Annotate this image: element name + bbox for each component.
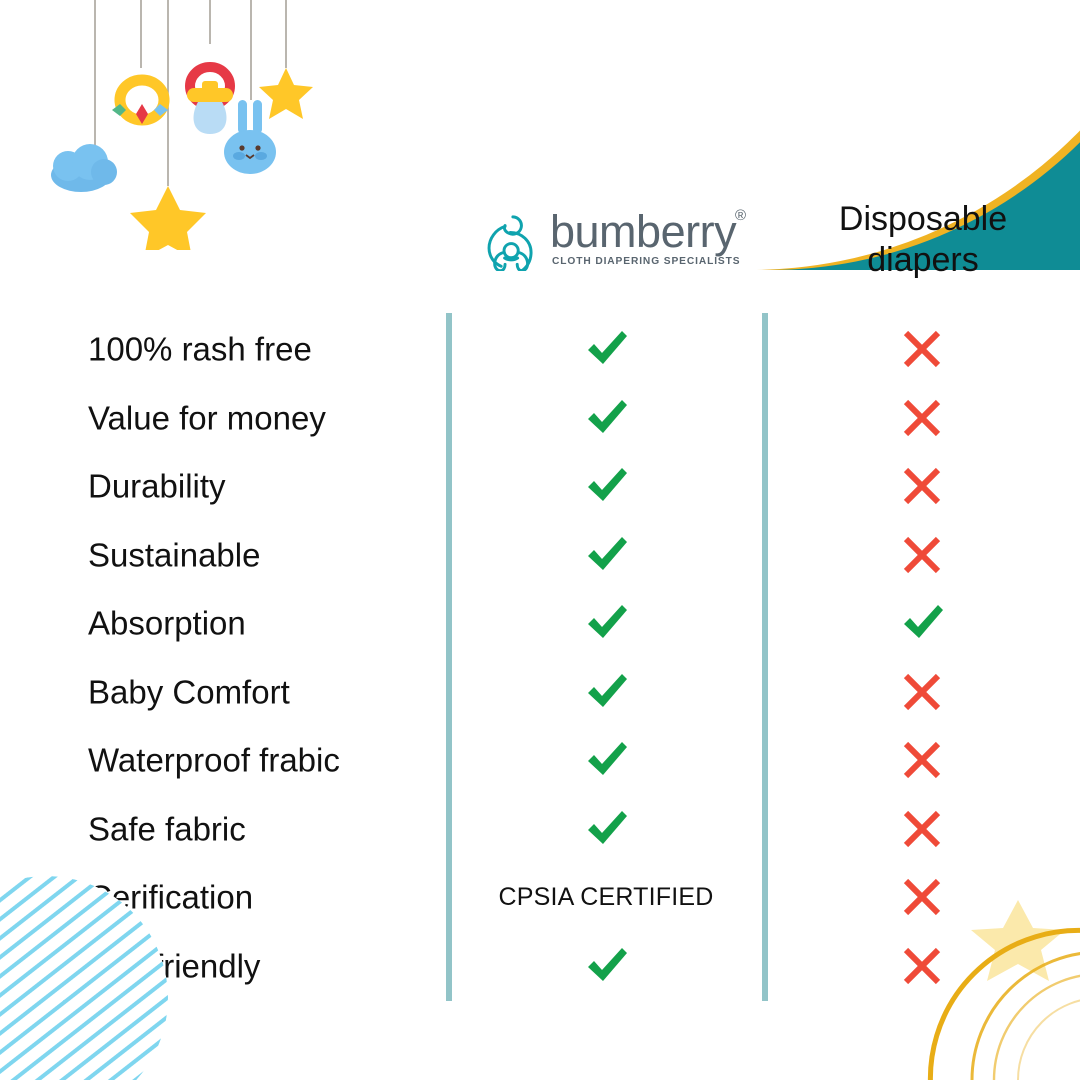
star-icon bbox=[259, 68, 313, 119]
brand-cell bbox=[452, 593, 760, 653]
rival-cell bbox=[768, 867, 1076, 927]
rival-cell bbox=[768, 662, 1076, 722]
cross-icon bbox=[901, 671, 943, 713]
check-icon bbox=[582, 599, 630, 647]
rival-column-title: Disposable diapers bbox=[823, 199, 1023, 282]
brand-cell bbox=[452, 319, 760, 379]
feature-label: Safe fabric bbox=[88, 812, 246, 845]
cross-icon bbox=[901, 534, 943, 576]
table-row: Sustainable bbox=[0, 521, 1080, 590]
table-row: Durability bbox=[0, 452, 1080, 521]
table-row: Baby Comfort bbox=[0, 658, 1080, 727]
brand-cell bbox=[452, 662, 760, 722]
brand-cell bbox=[452, 799, 760, 859]
brand-cell bbox=[452, 456, 760, 516]
rival-cell bbox=[768, 593, 1076, 653]
brand-wordmark: bumberry ® CLOTH DIAPERING SPECIALISTS bbox=[550, 207, 730, 273]
rival-cell bbox=[768, 730, 1076, 790]
brand-cell bbox=[452, 525, 760, 585]
rattle-ring-icon bbox=[112, 80, 168, 124]
feature-label: 100% rash free bbox=[88, 333, 312, 366]
brand-cell bbox=[452, 936, 760, 996]
cross-icon bbox=[901, 945, 943, 987]
registered-trademark-mark: ® bbox=[735, 207, 746, 224]
mother-and-baby-icon bbox=[486, 213, 538, 271]
feature-label: Eco friendly bbox=[88, 949, 260, 982]
feature-label: Baby Comfort bbox=[88, 675, 290, 708]
table-row: Absorption bbox=[0, 589, 1080, 658]
cross-icon bbox=[901, 808, 943, 850]
check-icon bbox=[582, 531, 630, 579]
check-icon bbox=[582, 805, 630, 853]
rival-cell bbox=[768, 936, 1076, 996]
rival-cell bbox=[768, 319, 1076, 379]
cross-icon bbox=[901, 465, 943, 507]
brand-cell bbox=[452, 388, 760, 448]
check-icon bbox=[898, 599, 946, 647]
feature-label: Sustainable bbox=[88, 538, 260, 571]
brand-tagline: CLOTH DIAPERING SPECIALISTS bbox=[552, 256, 740, 267]
table-row: CerificationCPSIA CERTIFIED bbox=[0, 863, 1080, 932]
rival-cell bbox=[768, 525, 1076, 585]
cross-icon bbox=[901, 876, 943, 918]
comparison-header: bumberry ® CLOTH DIAPERING SPECIALISTS D… bbox=[0, 185, 1080, 295]
check-icon bbox=[582, 462, 630, 510]
brand-cell: CPSIA CERTIFIED bbox=[452, 867, 760, 927]
check-icon bbox=[582, 325, 630, 373]
table-row: Waterproof frabic bbox=[0, 726, 1080, 795]
feature-label: Durability bbox=[88, 470, 226, 503]
cross-icon bbox=[901, 739, 943, 781]
feature-label: Value for money bbox=[88, 401, 326, 434]
rival-cell bbox=[768, 388, 1076, 448]
check-icon bbox=[582, 668, 630, 716]
check-icon bbox=[582, 736, 630, 784]
rival-cell bbox=[768, 456, 1076, 516]
table-row: Safe fabric bbox=[0, 795, 1080, 864]
brand-column-header: bumberry ® CLOTH DIAPERING SPECIALISTS bbox=[450, 185, 766, 295]
feature-label: Waterproof frabic bbox=[88, 744, 340, 777]
rival-column-header: Disposable diapers bbox=[766, 185, 1080, 295]
mobile-strings bbox=[95, 0, 286, 186]
table-row: Eco friendly bbox=[0, 932, 1080, 1001]
pacifier-icon bbox=[187, 67, 233, 134]
comparison-infographic: bumberry ® CLOTH DIAPERING SPECIALISTS D… bbox=[0, 0, 1080, 1080]
bunny-icon bbox=[224, 100, 276, 174]
cross-icon bbox=[901, 397, 943, 439]
table-row: 100% rash free bbox=[0, 315, 1080, 384]
comparison-rows: 100% rash freeValue for moneyDurabilityS… bbox=[0, 315, 1080, 1000]
feature-label: Cerification bbox=[88, 881, 253, 914]
check-icon bbox=[582, 394, 630, 442]
mother-and-baby-icon bbox=[963, 6, 1038, 108]
feature-label: Absorption bbox=[88, 607, 246, 640]
rival-cell bbox=[768, 799, 1076, 859]
certification-label: CPSIA CERTIFIED bbox=[498, 883, 713, 912]
table-row: Value for money bbox=[0, 384, 1080, 453]
brand-name: bumberry bbox=[550, 209, 736, 254]
cross-icon bbox=[901, 328, 943, 370]
check-icon bbox=[582, 942, 630, 990]
brand-cell bbox=[452, 730, 760, 790]
